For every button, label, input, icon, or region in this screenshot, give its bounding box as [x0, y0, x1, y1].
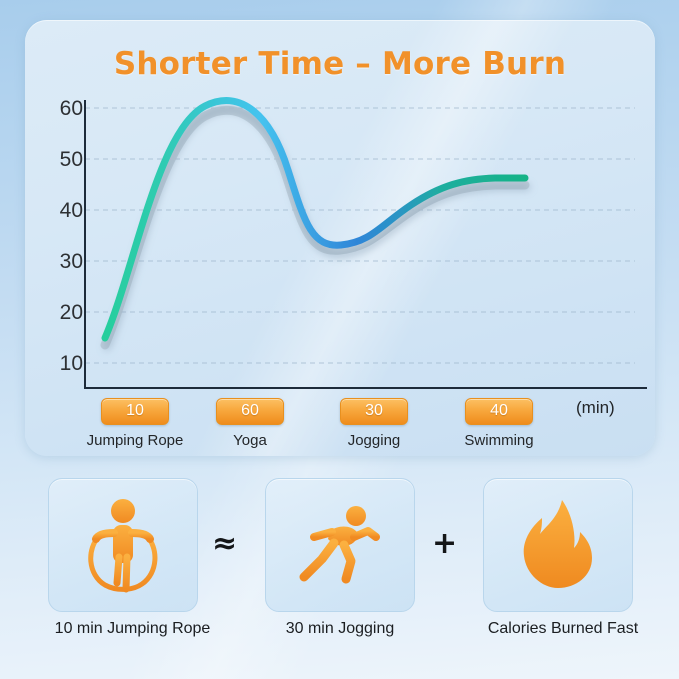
line-chart-plot: [25, 20, 655, 456]
chart-panel: Shorter Time – More Burn 60 50 40 30 20 …: [25, 20, 655, 456]
x-tick-name: Swimming: [439, 432, 559, 449]
poster-root: Shorter Time – More Burn 60 50 40 30 20 …: [0, 0, 679, 679]
approx-operator: ≈: [212, 526, 237, 561]
card-caption-calories: Calories Burned Fast: [447, 620, 679, 638]
x-tick-name: Yoga: [190, 432, 310, 449]
x-badge-value: 30: [340, 398, 408, 425]
data-curve: [105, 101, 525, 338]
gridlines: [85, 108, 635, 363]
card-calories-burned[interactable]: [483, 478, 633, 612]
x-tick-name: Jogging: [314, 432, 434, 449]
card-caption-jogging: 30 min Jogging: [240, 620, 440, 638]
x-badge-value: 10: [101, 398, 169, 425]
x-tick-jumping-rope: 10 Jumping Rope: [75, 398, 195, 449]
card-jumping-rope[interactable]: [48, 478, 198, 612]
summary-cards-row: 10 min Jumping Rope ≈: [0, 478, 679, 658]
x-tick-name: Jumping Rope: [75, 432, 195, 449]
running-icon: [294, 499, 386, 591]
x-badge-value: 40: [465, 398, 533, 425]
curve-shadow: [105, 110, 525, 345]
x-axis-unit-label: (min): [576, 398, 615, 418]
plus-operator: +: [432, 526, 457, 561]
flame-icon: [518, 498, 598, 592]
card-caption-jumping-rope: 10 min Jumping Rope: [0, 620, 265, 638]
card-jogging[interactable]: [265, 478, 415, 612]
x-tick-swimming: 40 Swimming: [439, 398, 559, 449]
jump-rope-icon: [80, 493, 166, 597]
x-badge-value: 60: [216, 398, 284, 425]
x-tick-jogging: 30 Jogging: [314, 398, 434, 449]
x-tick-yoga: 60 Yoga: [190, 398, 310, 449]
